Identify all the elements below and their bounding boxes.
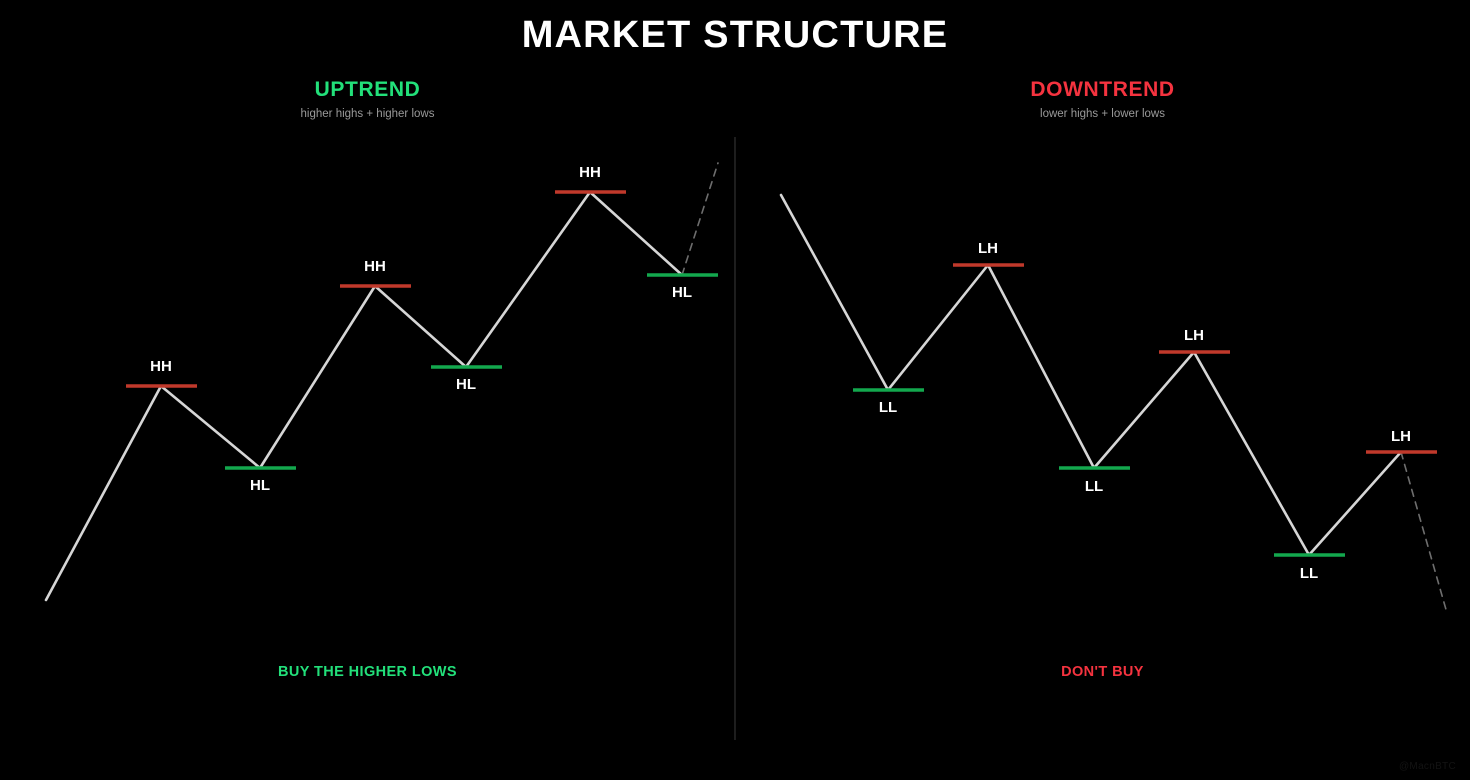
market-structure-chart: HHHLHHHLHHHLLLLHLLLHLLLH [0,0,1470,780]
swing-marker-group [126,192,1437,555]
uptrend-price-path [46,192,682,600]
swing-label-hl-3: HL [456,376,476,393]
swing-label-hh-2: HH [364,258,386,275]
swing-label-lh-9: LH [1184,327,1204,344]
price-path-group [46,163,1447,613]
market-structure-infographic: MARKET STRUCTURE UPTREND higher highs + … [0,0,1470,780]
swing-label-hl-5: HL [672,284,692,301]
swing-label-hl-1: HL [250,477,270,494]
swing-label-hh-4: HH [579,164,601,181]
swing-label-ll-6: LL [879,399,897,416]
watermark: @MacnBTC [1399,761,1456,772]
swing-label-group: HHHLHHHLHHHLLLLHLLLHLLLH [150,164,1411,582]
swing-label-lh-11: LH [1391,428,1411,445]
swing-label-hh-0: HH [150,358,172,375]
swing-label-lh-7: LH [978,240,998,257]
downtrend-price-path [781,195,1401,555]
swing-label-ll-8: LL [1085,478,1103,495]
downtrend-projection [1401,452,1447,613]
swing-label-ll-10: LL [1300,565,1318,582]
uptrend-projection [682,163,718,275]
